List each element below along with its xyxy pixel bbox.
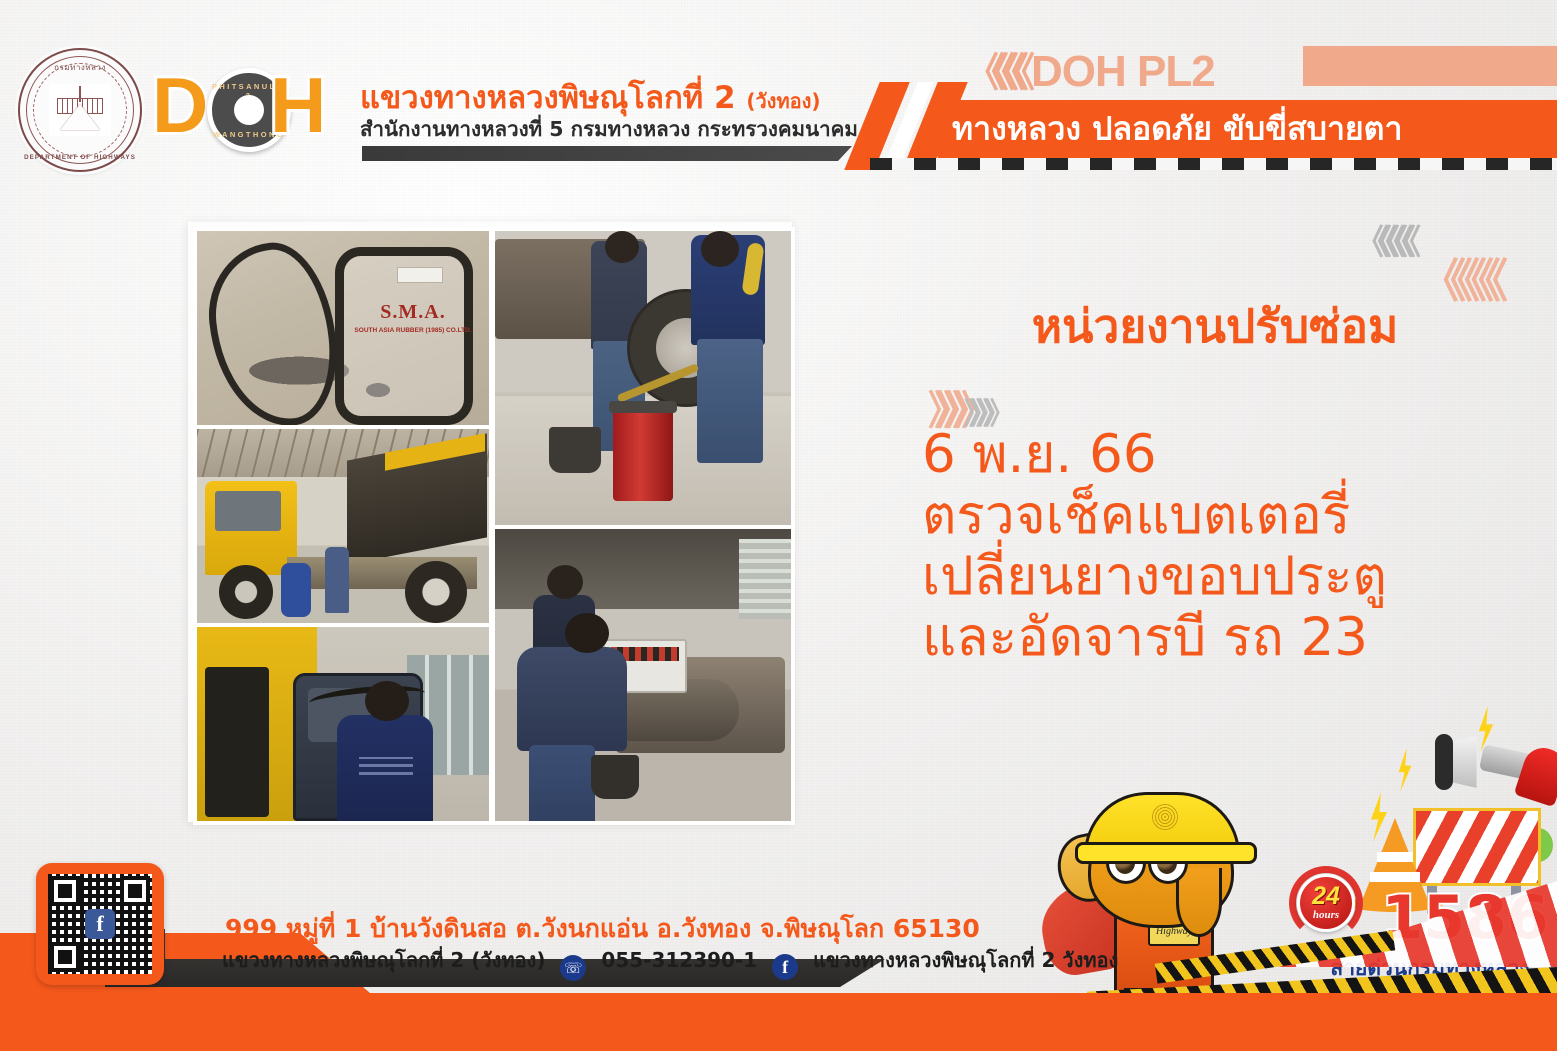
- worker-left-head: [605, 231, 639, 263]
- qr-finder-top-right: [120, 876, 150, 906]
- watermark-peach-bar: [1303, 46, 1557, 86]
- lightning-bolt-icon-1: [1397, 748, 1413, 792]
- bucket: [549, 427, 601, 473]
- photo-tire-grease-work[interactable]: อัดจารบีและถอดล้อ: [491, 227, 795, 529]
- footer-office-name: แขวงทางหลวงพิษณุโลกที่ 2 (วังทอง): [222, 948, 545, 972]
- photo-door-rubber-install[interactable]: ติดตั้งยางขอบประตู: [193, 623, 493, 825]
- slogan-text: ทางหลวง ปลอดภัย ขับขี่สบายตา: [952, 104, 1402, 155]
- watermark-label: DOH PL2: [1031, 47, 1215, 96]
- photo-yellow-dump-truck[interactable]: รถบรรทุกเทท้ายในโรงซ่อม: [193, 425, 493, 627]
- watermark-chevrons-icon: 《《《《: [965, 51, 1025, 95]
- megaphone-rim: [1435, 734, 1453, 790]
- footer-contact-row: แขวงทางหลวงพิษณุโลกที่ 2 (วังทอง) ☏ 055-…: [222, 944, 1118, 981]
- rubber-seal-loose: [202, 237, 345, 429]
- road-barricade-icon: [1413, 808, 1541, 886]
- content-line-3: และอัดจารบี รถ 23: [922, 607, 1522, 668]
- worker-front: [517, 647, 627, 751]
- 24-hours-badge: 24 hours: [1289, 866, 1363, 940]
- phone-icon: ☏: [560, 955, 586, 981]
- badge-number: 24: [1289, 884, 1363, 908]
- brand-subtext: SOUTH ASIA RUBBER (1985) CO.LTD.: [353, 327, 473, 334]
- header-dark-rule: [362, 146, 852, 161]
- qr-finder-bottom-left: [50, 942, 80, 972]
- footer-orange-bar: [0, 993, 1557, 1051]
- page-subtitle: สำนักงานทางหลวงที่ 5 กรมทางหลวง กระทรวงค…: [360, 113, 858, 146]
- watermark-doh-pl2: 《《《《DOH PL2: [965, 40, 1215, 98]
- checkered-strip: [870, 158, 1557, 170]
- page-title-paren: (วังทอง): [746, 89, 820, 113]
- facebook-qr-code[interactable]: f: [36, 863, 164, 985]
- logo-letter-d: D: [152, 66, 208, 144]
- qr-finder-top-left: [50, 876, 80, 906]
- content-lines: 6 พ.ย. 66 ตรวจเช็คแบตเตอรี่ เปลี่ยนยางขอ…: [922, 424, 1522, 668]
- worker-standing: [325, 547, 349, 613]
- decor-chevrons-gray-icon: 《《《《《: [1355, 215, 1412, 264]
- seal-emblem-icon: [49, 84, 111, 136]
- mascot-helmet-emblem-icon: [1152, 804, 1178, 830]
- content-line-date: 6 พ.ย. 66: [922, 424, 1522, 485]
- content-line-2: เปลี่ยนยางขอบประตู: [922, 546, 1522, 607]
- qr-code-matrix: f: [48, 874, 152, 974]
- rear-wheel: [405, 561, 467, 623]
- oil-bucket: [591, 755, 639, 799]
- content-heading: หน่วยงานปรับซ่อม: [910, 290, 1520, 363]
- photo-collage: S.M.A. SOUTH ASIA RUBBER (1985) CO.LTD. …: [188, 222, 792, 822]
- red-grease-drum: [613, 409, 673, 501]
- seal-bottom-text: DEPARTMENT OF HIGHWAYS: [20, 154, 140, 161]
- footer-facebook: แขวงทางหลวงพิษณุโลกที่ 2 วังทอง: [813, 948, 1118, 972]
- content-line-1: ตรวจเช็คแบตเตอรี่: [922, 485, 1522, 546]
- facebook-icon: f: [772, 954, 798, 980]
- window-light: [739, 539, 791, 619]
- brand-text-sma: S.M.A.: [359, 301, 467, 324]
- poster-canvas: กรมทางหลวง DEPARTMENT OF HIGHWAYS D PHIT…: [0, 0, 1557, 1051]
- page-title-main: แขวงทางหลวงพิษณุโลกที่ 2: [360, 80, 736, 116]
- product-label-tag: [397, 267, 443, 283]
- badge-unit: hours: [1289, 909, 1363, 921]
- slogan-banner: ทางหลวง ปลอดภัย ขับขี่สบายตา: [938, 100, 1557, 158]
- doh-official-seal: กรมทางหลวง DEPARTMENT OF HIGHWAYS: [18, 48, 142, 172]
- photo-battery-check[interactable]: ตรวจเช็คแบตเตอรี่: [491, 525, 795, 825]
- truck-cab: [205, 481, 297, 575]
- qr-facebook-logo-icon: f: [85, 909, 115, 939]
- logo-letter-h: H: [270, 66, 326, 144]
- worker-right-head: [701, 231, 739, 267]
- footer-address: 999 หมู่ที่ 1 บ้านวังดินสอ ต.วังนกแอ่น อ…: [225, 909, 980, 949]
- footer-phone: 055-312390-1: [601, 948, 757, 972]
- open-door-cavity: [205, 667, 269, 817]
- worker-installing: [337, 715, 433, 821]
- doh-wordmark-logo: D PHITSANULOK 2 WANGTHONG H: [152, 64, 352, 156]
- photo-door-rubber-seals[interactable]: S.M.A. SOUTH ASIA RUBBER (1985) CO.LTD. …: [193, 227, 493, 429]
- mascot-trunk: [1176, 868, 1222, 937]
- seal-top-text: กรมทางหลวง: [20, 61, 140, 74]
